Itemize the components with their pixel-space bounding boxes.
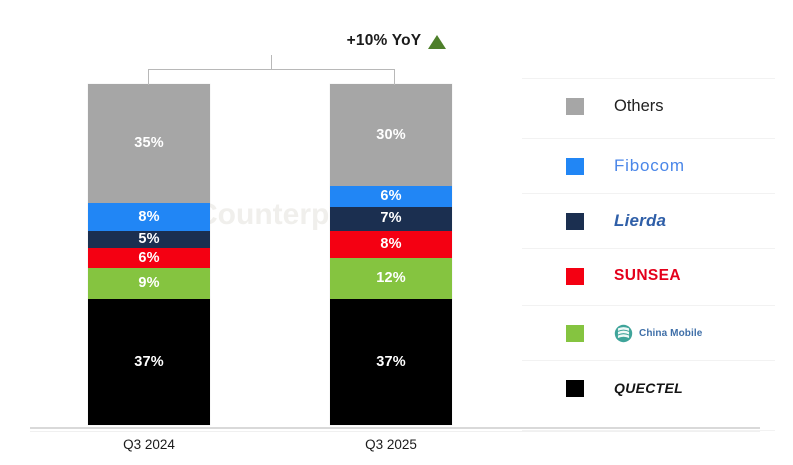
legend-label-wrap: QUECTEL	[614, 380, 683, 396]
bar-segment-value: 12%	[376, 271, 406, 286]
legend-item-label: Others	[614, 97, 664, 116]
bracket-stem	[271, 55, 272, 70]
legend: OthersFibocomLierdaSUNSEAChina MobileQUE…	[522, 0, 793, 465]
legend-item-lierda[interactable]: Lierda	[522, 193, 775, 248]
stacked-bar[interactable]: 35%8%5%6%9%37%	[88, 84, 210, 425]
legend-color-swatch	[566, 98, 584, 115]
bar-segment-value: 6%	[138, 251, 159, 266]
x-axis-category-label: Q3 2025	[330, 437, 452, 452]
chart-root: Counterpoint +10% YoY 35%8%5%6%9%37%Q3 2…	[0, 0, 793, 465]
legend-item-quectel[interactable]: QUECTEL	[522, 360, 775, 415]
legend-label-wrap: Lierda	[614, 211, 666, 231]
legend-item-others[interactable]: Others	[522, 78, 775, 133]
legend-label-wrap: Fibocom	[614, 156, 685, 176]
bar-segment-value: 30%	[376, 128, 406, 143]
legend-label-wrap: China Mobile	[614, 324, 702, 343]
legend-item-sunsea[interactable]: SUNSEA	[522, 248, 775, 303]
bar-segment-value: 37%	[376, 355, 406, 370]
bar-segment-value: 8%	[138, 210, 159, 225]
bar-segment-sunsea[interactable]: 8%	[330, 231, 452, 258]
comparison-bracket	[148, 69, 395, 85]
bar-segment-value: 7%	[380, 211, 401, 226]
legend-item-label: China Mobile	[639, 328, 702, 339]
bar-segment-value: 9%	[138, 276, 159, 291]
legend-item-china-mobile[interactable]: China Mobile	[522, 305, 775, 360]
legend-color-swatch	[566, 325, 584, 342]
x-axis-category-label: Q3 2024	[88, 437, 210, 452]
legend-bottom-divider	[522, 430, 775, 431]
bar-segment-others[interactable]: 35%	[88, 84, 210, 203]
bar-segment-china-mobile[interactable]: 9%	[88, 268, 210, 299]
bar-segment-sunsea[interactable]: 6%	[88, 248, 210, 268]
bar-segment-quectel[interactable]: 37%	[88, 299, 210, 425]
bar-segment-china-mobile[interactable]: 12%	[330, 258, 452, 299]
yoy-annotation-label: +10% YoY	[347, 32, 422, 50]
legend-item-label: Lierda	[614, 211, 666, 231]
triangle-up-icon	[428, 35, 446, 49]
bar-segment-fibocom[interactable]: 6%	[330, 186, 452, 206]
bar-segment-lierda[interactable]: 7%	[330, 207, 452, 231]
bar-segment-value: 6%	[380, 189, 401, 204]
stacked-bar[interactable]: 30%6%7%8%12%37%	[330, 84, 452, 425]
bar-segment-others[interactable]: 30%	[330, 84, 452, 186]
legend-item-label: SUNSEA	[614, 267, 681, 285]
legend-label-wrap: Others	[614, 97, 664, 116]
legend-item-fibocom[interactable]: Fibocom	[522, 138, 775, 193]
bar-segment-value: 8%	[380, 237, 401, 252]
bar-segment-fibocom[interactable]: 8%	[88, 203, 210, 230]
china-mobile-logo-icon	[614, 324, 633, 343]
legend-item-label: QUECTEL	[614, 380, 683, 396]
legend-color-swatch	[566, 380, 584, 397]
yoy-annotation: +10% YoY	[0, 32, 793, 50]
legend-color-swatch	[566, 213, 584, 230]
legend-color-swatch	[566, 268, 584, 285]
bar-segment-value: 5%	[138, 232, 159, 247]
bar-segment-lierda[interactable]: 5%	[88, 231, 210, 248]
legend-item-label: Fibocom	[614, 156, 685, 176]
legend-color-swatch	[566, 158, 584, 175]
bar-segment-value: 37%	[134, 355, 164, 370]
legend-label-wrap: SUNSEA	[614, 267, 681, 285]
bar-segment-quectel[interactable]: 37%	[330, 299, 452, 425]
bar-segment-value: 35%	[134, 136, 164, 151]
